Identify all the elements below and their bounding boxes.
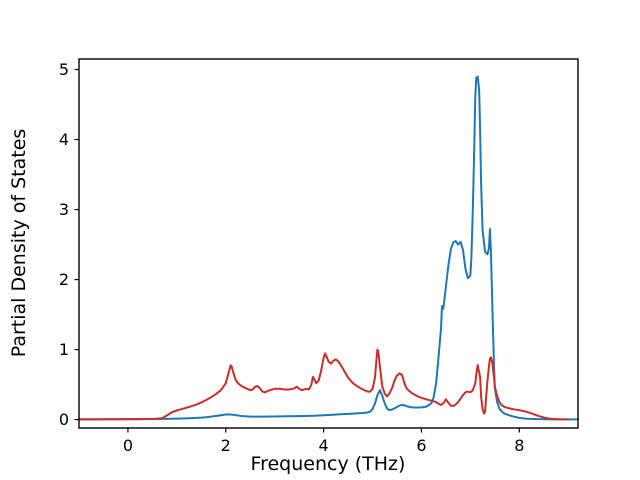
y-axis-ticks: 012345 bbox=[59, 60, 79, 429]
figure-canvas: 02468 012345 Frequency (THz) Partial Den… bbox=[0, 0, 640, 480]
y-axis-label: Partial Density of States bbox=[8, 129, 30, 358]
y-tick-label: 5 bbox=[59, 60, 69, 79]
x-axis-ticks: 02468 bbox=[123, 428, 525, 455]
y-tick-label: 0 bbox=[59, 410, 69, 429]
x-tick-label: 6 bbox=[416, 436, 426, 455]
x-axis-label: Frequency (THz) bbox=[251, 453, 406, 475]
y-tick-label: 3 bbox=[59, 200, 69, 219]
plot-background bbox=[79, 59, 578, 428]
pdos-plot: 02468 012345 Frequency (THz) Partial Den… bbox=[0, 0, 640, 480]
x-tick-label: 0 bbox=[123, 436, 133, 455]
x-tick-label: 8 bbox=[514, 436, 524, 455]
y-tick-label: 4 bbox=[59, 130, 69, 149]
y-tick-label: 1 bbox=[59, 340, 69, 359]
x-tick-label: 2 bbox=[221, 436, 231, 455]
y-tick-label: 2 bbox=[59, 270, 69, 289]
